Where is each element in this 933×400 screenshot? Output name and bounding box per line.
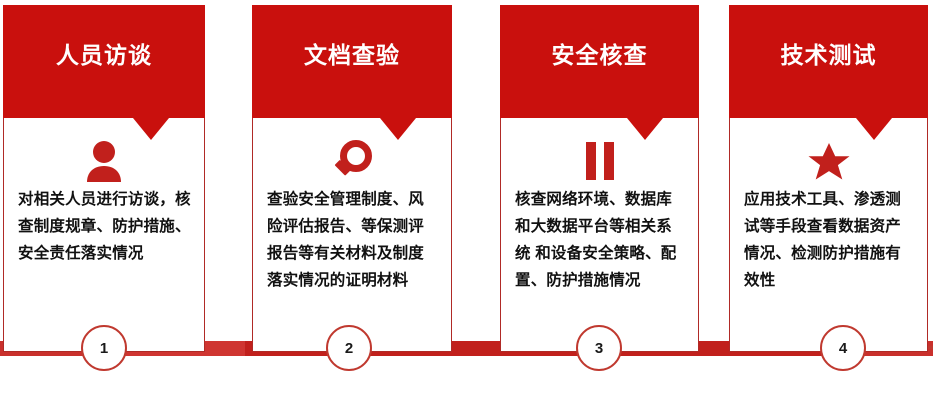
step-header-notch-3 [627,118,663,140]
step-title-1: 人员访谈 [56,44,152,67]
step-description-3: 核查网络环境、数据库和大数据平台等相关系统 和设备安全策略、配置、防护措施情况 [515,186,686,294]
timeline-node-label-1: 1 [100,340,108,357]
step-description-4: 应用技术工具、渗透测试等手段查看数据资产情况、检测防护措施有效性 [744,186,915,294]
step-header-4: 技术测试 [729,5,928,118]
timeline-node-1[interactable]: 1 [81,325,127,371]
step-description-1: 对相关人员进行访谈，核查制度规章、防护措施、 安全责任落实情况 [18,186,192,267]
step-header-1: 人员访谈 [3,5,205,118]
step-title-4: 技术测试 [781,44,877,67]
step-header-notch-1 [133,118,169,140]
timeline-node-3[interactable]: 3 [576,325,622,371]
step-header-notch-4 [856,118,892,140]
step-body-1: 对相关人员进行访谈，核查制度规章、防护措施、 安全责任落实情况 [3,118,205,352]
star-icon [730,136,927,186]
timeline-node-label-3: 3 [595,340,603,357]
timeline-node-4[interactable]: 4 [820,325,866,371]
timeline-node-2[interactable]: 2 [326,325,372,371]
step-header-2: 文档查验 [252,5,452,118]
person-icon [4,136,204,186]
timeline-node-label-2: 2 [345,340,353,357]
magnifier-icon [253,136,451,186]
step-description-2: 查验安全管理制度、风险评估报告、等保测评报告等有关材料及制度落实情况的证明材料 [267,186,439,294]
step-header-3: 安全核查 [500,5,699,118]
timeline-node-label-4: 4 [839,340,847,357]
step-title-2: 文档查验 [304,44,400,67]
process-timeline-infographic: 人员访谈 对相关人员进行访谈，核查制度规章、防护措施、 安全责任落实情况 文档查… [0,0,933,400]
step-header-notch-2 [380,118,416,140]
step-body-3: 核查网络环境、数据库和大数据平台等相关系统 和设备安全策略、配置、防护措施情况 [500,118,699,352]
pause-bars-icon [501,136,698,186]
step-body-4: 应用技术工具、渗透测试等手段查看数据资产情况、检测防护措施有效性 [729,118,928,352]
step-body-2: 查验安全管理制度、风险评估报告、等保测评报告等有关材料及制度落实情况的证明材料 [252,118,452,352]
step-title-3: 安全核查 [552,44,648,67]
